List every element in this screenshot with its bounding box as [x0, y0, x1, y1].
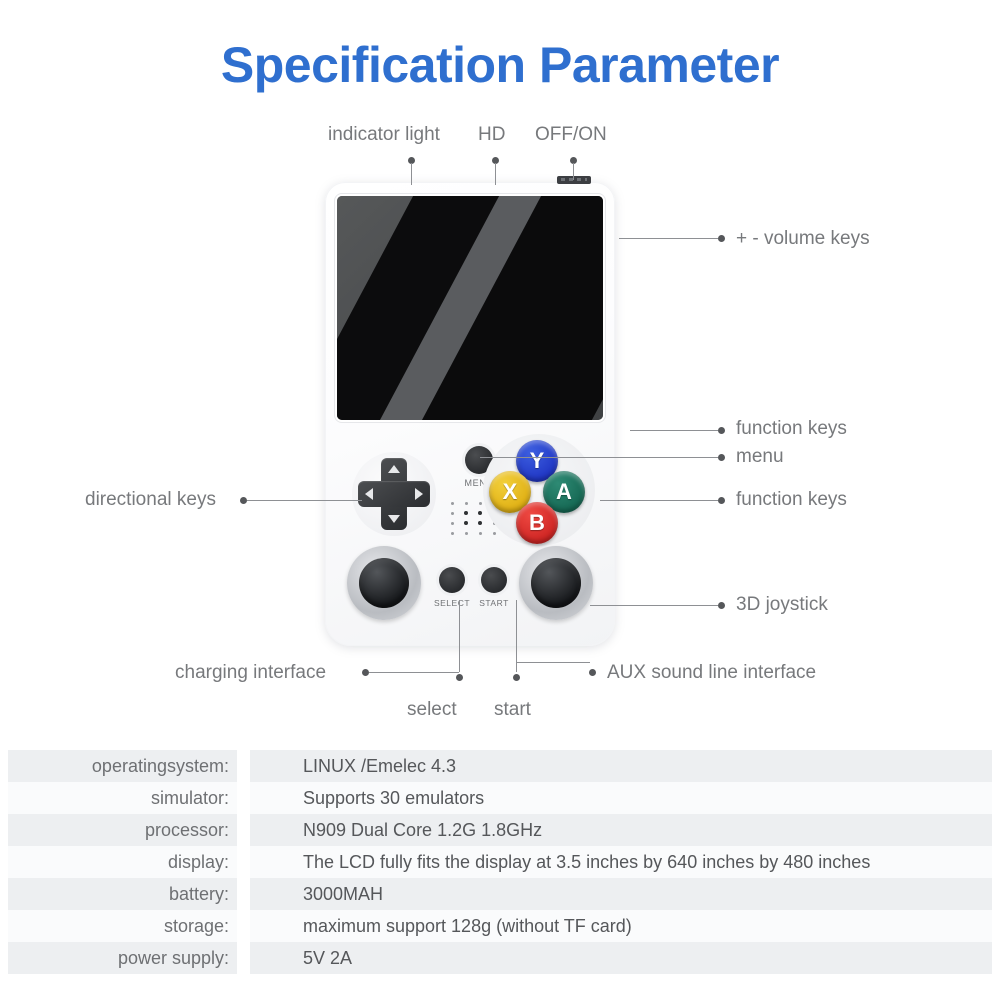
table-row: battery:3000MAH — [0, 878, 1000, 910]
dpad-left-arrow-icon — [365, 488, 373, 500]
spec-value: The LCD fully fits the display at 3.5 in… — [303, 846, 870, 878]
dpad-right-arrow-icon — [415, 488, 423, 500]
spec-value: 5V 2A — [303, 942, 352, 974]
power-switch-nub — [557, 176, 591, 184]
spec-value: N909 Dual Core 1.2G 1.8GHz — [303, 814, 542, 846]
spec-key: operatingsystem: — [8, 750, 229, 782]
spec-value-background — [250, 942, 992, 974]
callout-menu-line — [480, 457, 718, 458]
callout-menu-label: menu — [736, 446, 784, 468]
callout-volume-keys-label: + - volume keys — [736, 228, 870, 250]
spec-key: simulator: — [8, 782, 229, 814]
callout-hd-line — [495, 163, 496, 185]
spec-value: LINUX /Emelec 4.3 — [303, 750, 456, 782]
callout-function-keys-bottom-line — [600, 500, 718, 501]
callout-aux-dot — [589, 669, 596, 676]
callout-start-dot — [513, 674, 520, 681]
spec-key: battery: — [8, 878, 229, 910]
callout-hd-label: HD — [478, 124, 505, 146]
joystick-right[interactable] — [519, 546, 593, 620]
callout-menu-dot — [718, 454, 725, 461]
table-row: power supply:5V 2A — [0, 942, 1000, 974]
spec-key: power supply: — [8, 942, 229, 974]
callout-start-label: start — [494, 699, 531, 721]
callout-function-keys-bottom-dot — [718, 497, 725, 504]
callout-charging-interface-line — [369, 672, 459, 673]
callout-function-keys-bottom-label: function keys — [736, 489, 847, 511]
joystick-left[interactable] — [347, 546, 421, 620]
callout-select-label: select — [407, 699, 457, 721]
table-row: simulator:Supports 30 emulators — [0, 782, 1000, 814]
table-row: display:The LCD fully fits the display a… — [0, 846, 1000, 878]
specification-page: Specification Parameter MENU — [0, 0, 1000, 1000]
callout-off-on-label: OFF/ON — [535, 124, 607, 146]
spec-value: Supports 30 emulators — [303, 782, 484, 814]
callout-off-on-line — [573, 163, 574, 180]
callout-function-keys-top-line — [630, 430, 718, 431]
table-row: operatingsystem:LINUX /Emelec 4.3 — [0, 750, 1000, 782]
table-row: storage:maximum support 128g (without TF… — [0, 910, 1000, 942]
callout-indicator-light-line — [411, 163, 412, 185]
callout-aux-label: AUX sound line interface — [607, 662, 816, 684]
spec-value: maximum support 128g (without TF card) — [303, 910, 632, 942]
callout-select-line — [459, 600, 460, 672]
spec-key: processor: — [8, 814, 229, 846]
handheld-device-illustration: MENU Y X A B — [325, 182, 615, 646]
callout-charging-interface-dot — [362, 669, 369, 676]
callout-indicator-light-label: indicator light — [328, 124, 440, 146]
table-row: processor:N909 Dual Core 1.2G 1.8GHz — [0, 814, 1000, 846]
callout-directional-keys-dot — [240, 497, 247, 504]
callout-charging-interface-label: charging interface — [175, 662, 326, 684]
spec-key: display: — [8, 846, 229, 878]
callout-function-keys-top-dot — [718, 427, 725, 434]
callout-directional-keys-line — [247, 500, 362, 501]
spec-key: storage: — [8, 910, 229, 942]
spec-value: 3000MAH — [303, 878, 383, 910]
callout-function-keys-top-label: function keys — [736, 418, 847, 440]
callout-3d-joystick-label: 3D joystick — [736, 594, 828, 616]
select-button[interactable] — [439, 567, 465, 593]
start-button[interactable] — [481, 567, 507, 593]
callout-volume-keys-line — [619, 238, 718, 239]
callout-select-dot — [456, 674, 463, 681]
directional-pad[interactable] — [358, 458, 430, 530]
device-screen — [337, 196, 603, 420]
page-title: Specification Parameter — [0, 36, 1000, 94]
face-button-b[interactable]: B — [516, 502, 558, 544]
specification-table: operatingsystem:LINUX /Emelec 4.3simulat… — [0, 750, 1000, 974]
dpad-down-arrow-icon — [388, 515, 400, 523]
start-button-label: START — [464, 598, 524, 608]
dpad-up-arrow-icon — [388, 465, 400, 473]
callout-3d-joystick-dot — [718, 602, 725, 609]
callout-directional-keys-label: directional keys — [85, 489, 216, 511]
callout-3d-joystick-line — [590, 605, 718, 606]
callout-volume-keys-dot — [718, 235, 725, 242]
callout-aux-line — [516, 662, 590, 663]
